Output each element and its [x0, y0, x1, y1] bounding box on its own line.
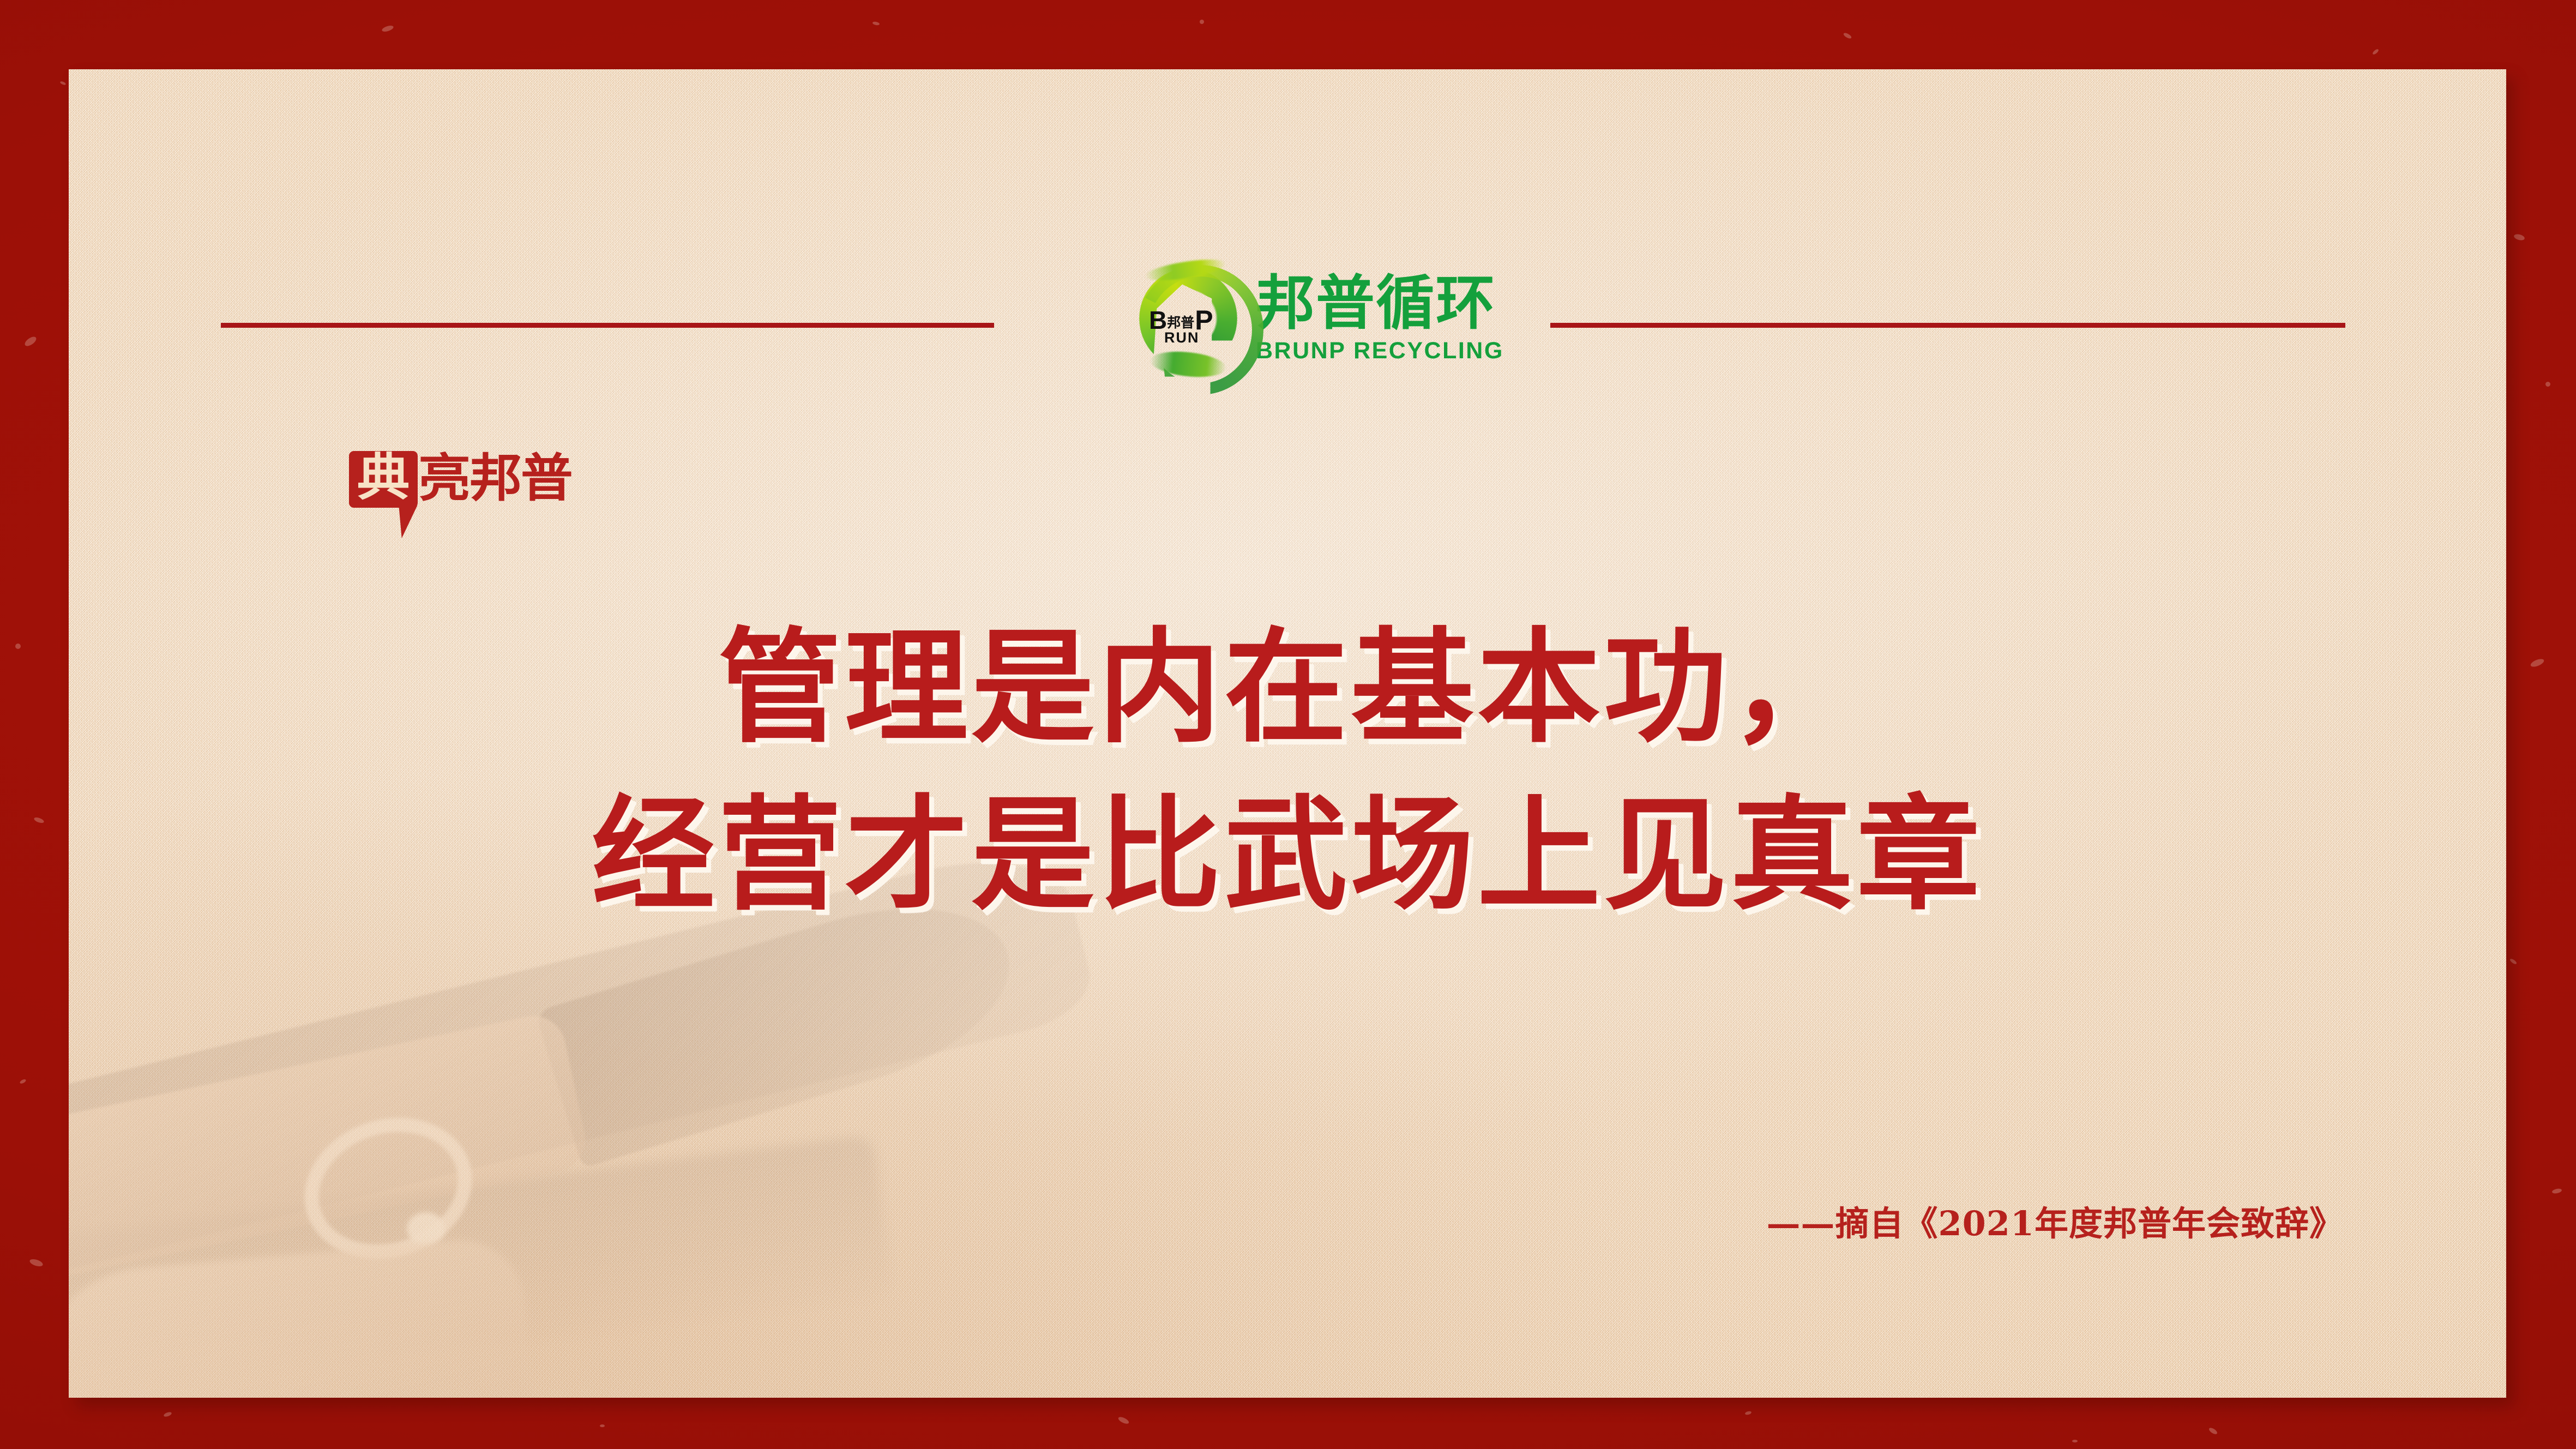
brunp-ring-mark-icon: B 邦普 P RUN [1135, 264, 1243, 373]
logo-mark-run: RUN [1164, 330, 1200, 345]
decorative-rule-right [1550, 323, 2345, 328]
headline-block: 管理是内在基本功， 经营才是比武场上见真章 [69, 604, 2506, 939]
brunp-logo: B 邦普 P RUN 邦普循环 BRUNP RECYCLING [1135, 261, 1560, 376]
slide-header: B 邦普 P RUN 邦普循环 BRUNP RECYCLING [69, 261, 2506, 387]
headline-line-2: 经营才是比武场上见真章 [69, 771, 2506, 939]
logo-mark-chinese: 邦普 [1167, 316, 1194, 330]
wordmark-english: BRUNP RECYCLING [1256, 338, 1504, 364]
slide-canvas: B 邦普 P RUN 邦普循环 BRUNP RECYCLING 典 [0, 0, 2576, 1449]
wordmark-chinese: 邦普循环 [1256, 273, 1504, 334]
ghost-knife-photo [69, 907, 1541, 1398]
decorative-rule-left [221, 323, 994, 328]
badge-box-character: 典 [357, 453, 410, 503]
badge-speech-bubble: 典 [349, 451, 418, 508]
paper-panel: B 邦普 P RUN 邦普循环 BRUNP RECYCLING 典 [69, 69, 2506, 1398]
badge-label: 亮邦普 [418, 453, 572, 504]
badge-tail-icon [393, 506, 418, 538]
brunp-wordmark: 邦普循环 BRUNP RECYCLING [1256, 273, 1504, 364]
headline-line-1: 管理是内在基本功， [69, 604, 2506, 771]
series-badge: 典 亮邦普 [349, 451, 570, 508]
attribution-text: ——摘自《2021年度邦普年会致辞》 [1766, 1196, 2344, 1245]
